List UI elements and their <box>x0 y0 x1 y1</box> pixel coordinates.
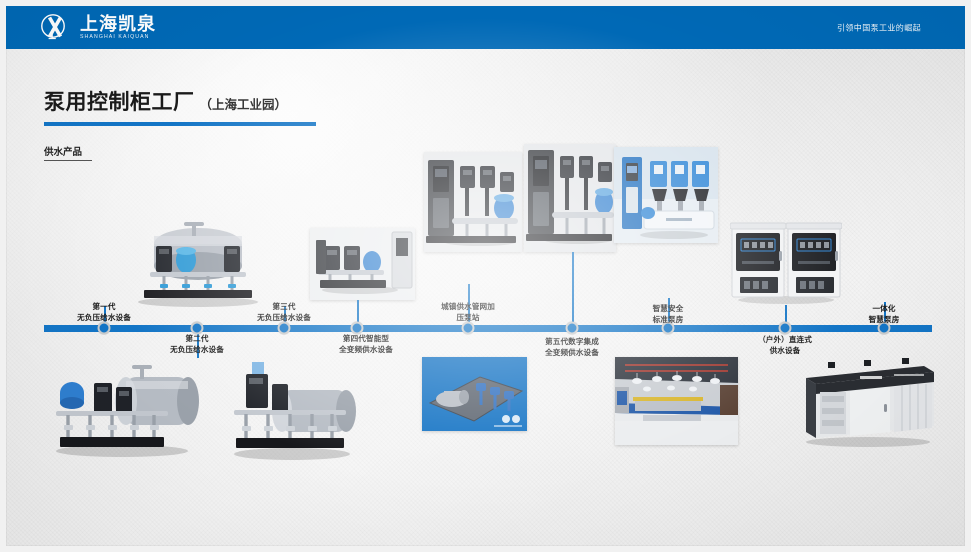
timeline-caption-1: 第一代 无负压给水设备 <box>77 301 131 323</box>
title-block: 泵用控制柜工厂 （上海工业园） 供水产品 <box>44 86 316 161</box>
brand-name-en: SHANGHAI KAIQUAN <box>80 35 156 40</box>
product-image-fourth-gen-intelligent-vfd-unit[interactable] <box>310 228 415 300</box>
timeline-caption-7: 智慧安全 标准泵房 <box>653 303 684 325</box>
product-image-first-gen-non-negative-pressure-unit[interactable] <box>122 212 274 308</box>
brand-logo[interactable]: 上海凯泉 SHANGHAI KAIQUAN <box>40 13 156 43</box>
timeline-caption-9: 一体化 智慧泵房 <box>869 303 900 325</box>
product-image-third-gen-secondary[interactable] <box>222 350 358 462</box>
header-tagline: 引领中国泵工业的崛起 <box>837 22 921 33</box>
product-image-second-gen-non-negative-pressure-unit[interactable] <box>40 355 200 459</box>
timeline-caption-8: （户外）直连式 供水设备 <box>758 334 812 356</box>
timeline-node-5[interactable] <box>462 322 475 335</box>
timeline-node-3[interactable] <box>278 322 291 335</box>
timeline-dot-icon <box>278 322 291 335</box>
product-image-outdoor-direct-connect-unit[interactable] <box>730 215 842 305</box>
timeline-caption-6: 第五代数字集成 全变频供水设备 <box>545 336 599 358</box>
header-bar: 上海凯泉 SHANGHAI KAIQUAN 引领中国泵工业的崛起 <box>6 6 965 49</box>
page-title-row: 泵用控制柜工厂 （上海工业园） <box>44 86 316 116</box>
timeline-dot-icon <box>779 322 792 335</box>
product-image-fifth-gen-digital-integrated-vfd-unit[interactable] <box>524 144 616 252</box>
page-title: 泵用控制柜工厂 <box>44 86 195 116</box>
timeline-dot-icon <box>98 322 111 335</box>
section-label: 供水产品 <box>44 144 316 158</box>
product-image-smart-safe-standard-pump-room-unit[interactable] <box>614 147 718 243</box>
timeline-stem-6 <box>572 252 574 328</box>
timeline-dot-icon <box>566 322 579 335</box>
brand-name-cn: 上海凯泉 <box>80 15 156 33</box>
product-image-pump-room-interior[interactable] <box>615 357 738 445</box>
timeline-caption-2: 第二代 无负压给水设备 <box>170 333 224 355</box>
title-underline-rule <box>44 122 316 126</box>
timeline-bar <box>44 325 932 332</box>
timeline-caption-5: 城镇供水管网加 压泵站 <box>441 301 495 323</box>
page-title-suffix: （上海工业园） <box>200 94 288 113</box>
product-image-municipal-booster-render[interactable] <box>422 357 527 431</box>
kaiquan-logo-icon <box>40 13 74 43</box>
product-image-integrated-smart-pump-house[interactable] <box>798 358 938 450</box>
timeline-node-6[interactable] <box>566 322 579 335</box>
timeline-node-1[interactable] <box>98 322 111 335</box>
brand-logo-text: 上海凯泉 SHANGHAI KAIQUAN <box>80 15 156 40</box>
slide-canvas: 上海凯泉 SHANGHAI KAIQUAN 引领中国泵工业的崛起 泵用控制柜工厂… <box>0 0 971 552</box>
timeline-node-8[interactable] <box>779 322 792 335</box>
timeline-caption-3: 第三代 无负压给水设备 <box>257 301 311 323</box>
timeline-caption-4: 第四代智能型 全变频供水设备 <box>339 333 393 355</box>
section-label-underline <box>44 160 92 161</box>
timeline-dot-icon <box>462 322 475 335</box>
product-image-municipal-network-booster-station[interactable] <box>424 152 522 252</box>
